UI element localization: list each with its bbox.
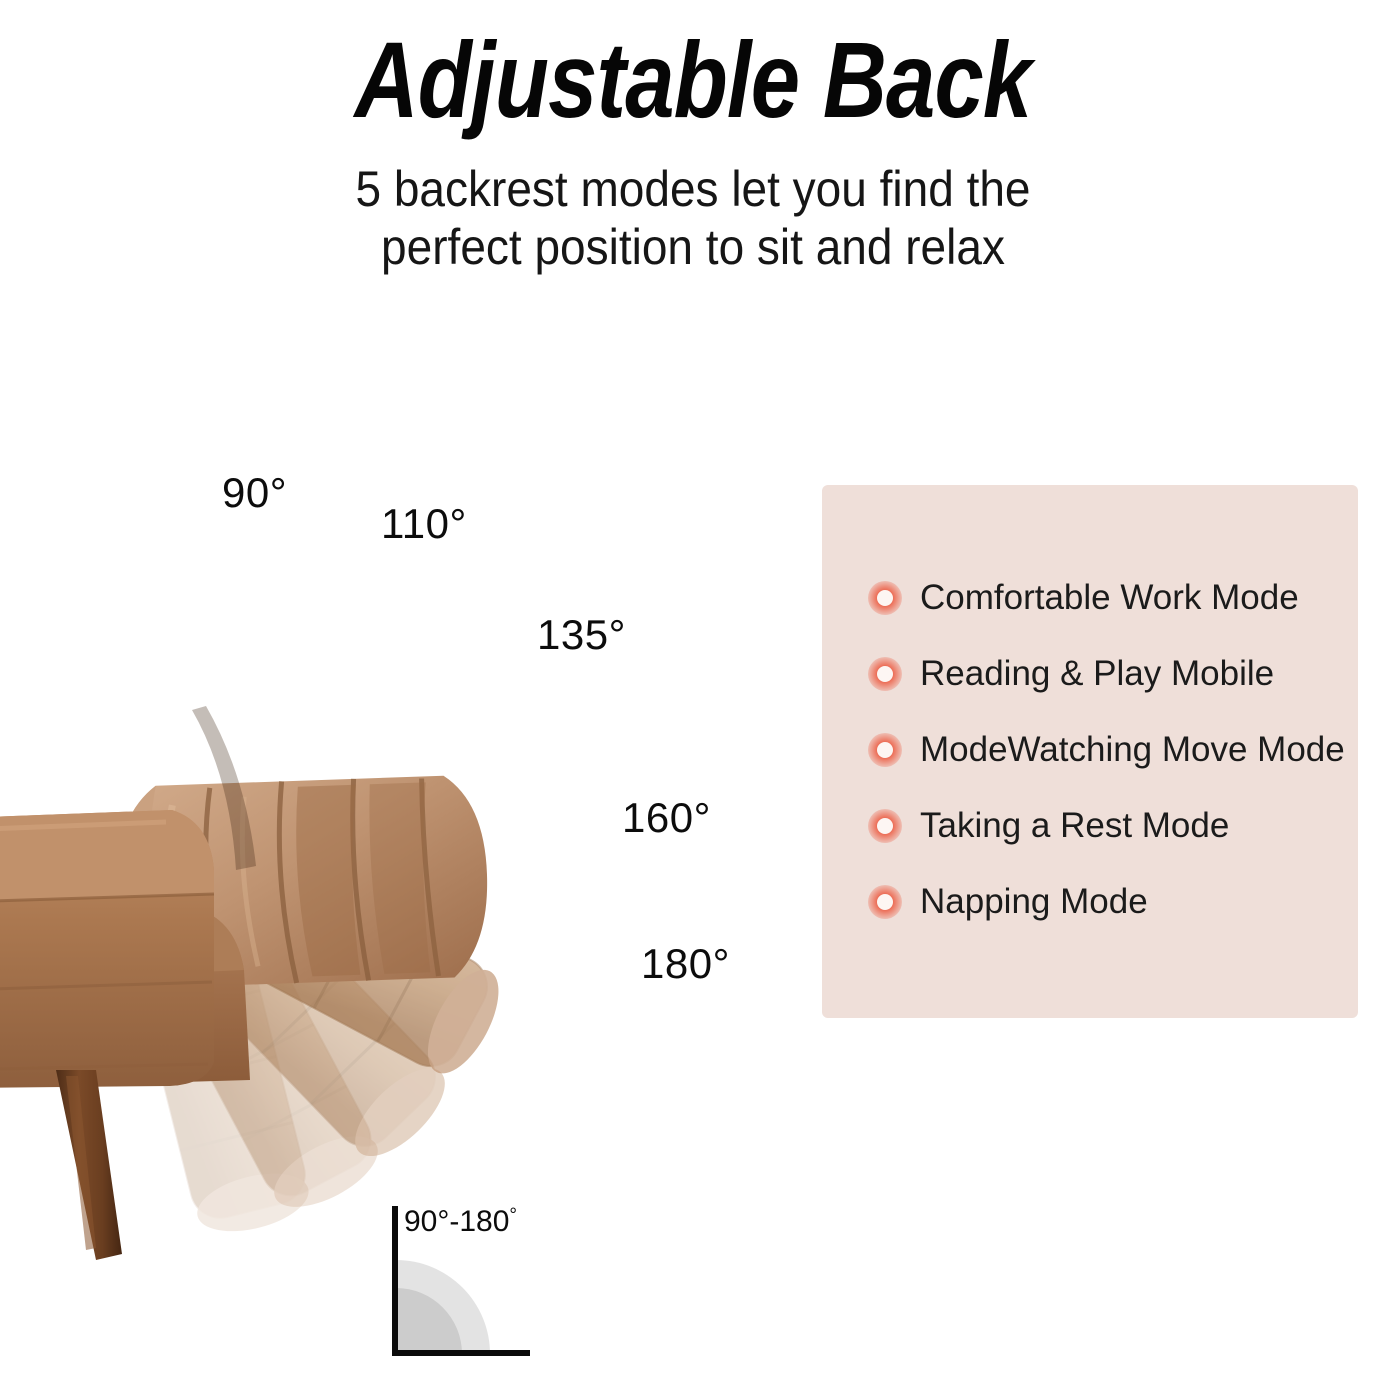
subtitle-line-2: perfect position to sit and relax	[55, 218, 1330, 276]
subtitle-line-1: 5 backrest modes let you find the	[55, 160, 1330, 218]
angle-range-caption: 90°-180°	[404, 1200, 517, 1238]
list-item[interactable]: Taking a Rest Mode	[868, 788, 1348, 864]
bullet-dot-icon	[868, 657, 902, 691]
angle-range-text: 90°-180	[404, 1205, 509, 1238]
bullet-dot-icon	[868, 809, 902, 843]
list-item[interactable]: Reading & Play Mobile	[868, 636, 1348, 712]
angle-label-110: 110°	[381, 501, 467, 547]
armrest	[0, 810, 214, 1088]
page-subtitle: 5 backrest modes let you find the perfec…	[55, 160, 1330, 276]
bullet-dot-icon	[868, 885, 902, 919]
chair-leg	[56, 1070, 122, 1260]
feature-list: Comfortable Work Mode Reading & Play Mob…	[868, 560, 1348, 940]
list-item[interactable]: Comfortable Work Mode	[868, 560, 1348, 636]
feature-label: Comfortable Work Mode	[920, 578, 1299, 618]
list-item[interactable]: Napping Mode	[868, 864, 1348, 940]
angle-label-135: 135°	[537, 612, 626, 658]
feature-label: ModeWatching Move Mode	[920, 730, 1345, 770]
bullet-dot-icon	[868, 733, 902, 767]
feature-mode-panel: Comfortable Work Mode Reading & Play Mob…	[822, 485, 1358, 1018]
list-item[interactable]: ModeWatching Move Mode	[868, 712, 1348, 788]
recliner-chair-illustration	[0, 470, 780, 1260]
infographic-page: Adjustable Back 5 backrest modes let you…	[0, 0, 1386, 1386]
page-title: Adjustable Back	[125, 20, 1262, 140]
angle-label-180: 180°	[641, 941, 730, 987]
angle-label-160: 160°	[622, 795, 711, 841]
angle-arc-fills	[396, 1260, 490, 1354]
bullet-dot-icon	[868, 581, 902, 615]
feature-label: Reading & Play Mobile	[920, 654, 1274, 694]
degree-symbol: °	[509, 1205, 517, 1226]
angle-label-90: 90°	[222, 470, 287, 516]
feature-label: Taking a Rest Mode	[920, 806, 1229, 846]
feature-label: Napping Mode	[920, 882, 1148, 922]
